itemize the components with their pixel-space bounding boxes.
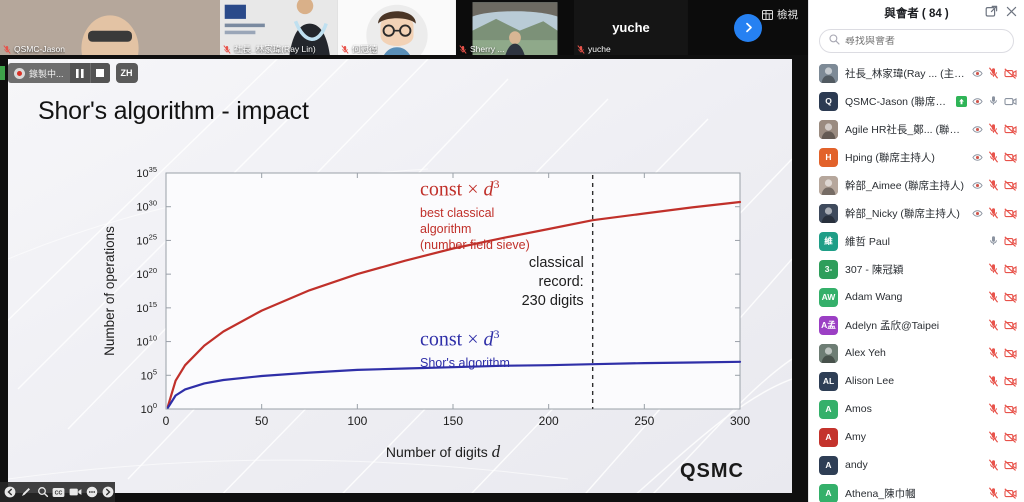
tile-name-label: Sherry ... <box>459 44 504 54</box>
participant-row[interactable]: AAmy <box>809 423 1024 451</box>
participants-panel: 與會者 ( 84 ) 社長_林家瑋(Ray ... (主持人, 我)QQSMC-… <box>808 0 1024 502</box>
share-icon[interactable] <box>956 96 967 107</box>
view-button-label: 檢視 <box>777 7 798 22</box>
stop-recording-button[interactable] <box>90 63 110 83</box>
avatar <box>819 344 838 363</box>
mic-off-icon <box>988 375 999 387</box>
participant-row[interactable]: 幹部_Aimee (聯席主持人) <box>809 171 1024 199</box>
y-tick-label: 1010 <box>136 334 157 349</box>
mic-off-icon <box>223 45 231 54</box>
tile-name-label: 何冠德 <box>341 44 378 54</box>
mic-off-icon <box>988 487 999 499</box>
mic-off-icon[interactable] <box>988 431 999 443</box>
video-tile[interactable]: 社長_林家瑋(Ray Lin) <box>220 0 338 55</box>
video-off-icon[interactable] <box>1004 348 1017 359</box>
avatar: 維 <box>819 232 838 251</box>
participant-status-icons <box>988 347 1017 359</box>
tile-name-label: QSMC-Jason <box>3 44 65 54</box>
participant-status-icons <box>988 375 1017 387</box>
participant-status-icons <box>972 123 1017 135</box>
participant-status-icons <box>988 263 1017 275</box>
x-tick-label: 150 <box>443 414 463 428</box>
video-off-icon[interactable] <box>1004 488 1017 499</box>
mic-off-icon[interactable] <box>988 263 999 275</box>
tile-name-label: yuche <box>577 44 611 54</box>
tile-name-label: 社長_林家瑋(Ray Lin) <box>223 44 316 54</box>
video-off-icon <box>1004 376 1017 387</box>
classical-record-annotation: record: <box>539 274 584 290</box>
avatar: 3- <box>819 260 838 279</box>
video-tile[interactable]: yucheyuche <box>574 0 688 55</box>
participant-row[interactable]: Agile HR社長_鄭... (聯席主持人) <box>809 115 1024 143</box>
video-off-icon <box>1004 236 1017 247</box>
participant-status-icons <box>988 431 1017 443</box>
mic-off-icon[interactable] <box>988 291 999 303</box>
video-off-icon[interactable] <box>1004 320 1017 331</box>
participant-status-icons <box>988 487 1017 499</box>
avatar: AL <box>819 372 838 391</box>
view-button[interactable]: 檢視 <box>758 5 802 24</box>
mic-off-icon <box>988 459 999 471</box>
video-tile[interactable]: Sherry ... <box>456 0 574 55</box>
y-tick-label: 1035 <box>136 165 157 180</box>
y-tick-label: 1030 <box>136 199 157 214</box>
closed-caption-icon[interactable]: CC <box>52 485 66 500</box>
record-icon[interactable] <box>972 96 983 107</box>
chat-icon[interactable] <box>84 485 98 500</box>
participant-name: Hping (聯席主持人) <box>845 150 965 165</box>
video-off-icon[interactable] <box>1004 152 1017 163</box>
mic-off-icon <box>988 179 999 191</box>
participant-row[interactable]: ALAlison Lee <box>809 367 1024 395</box>
participant-name: QSMC-Jason (聯席主持人) <box>845 94 949 109</box>
participant-row[interactable]: 幹部_Nicky (聯席主持人) <box>809 199 1024 227</box>
avatar-photo <box>819 120 838 139</box>
mic-off-icon[interactable] <box>988 151 999 163</box>
video-off-icon <box>1004 348 1017 359</box>
y-tick-label: 100 <box>141 401 157 416</box>
avatar: A <box>819 484 838 502</box>
mic-off-icon[interactable] <box>988 487 999 499</box>
video-off-icon[interactable] <box>1004 68 1017 79</box>
mic-off-icon[interactable] <box>988 207 999 219</box>
classical-record-annotation: classical <box>529 255 584 271</box>
x-tick-label: 200 <box>539 414 559 428</box>
mic-off-icon <box>988 207 999 219</box>
video-on-icon <box>1004 96 1017 107</box>
back-arrow-icon[interactable] <box>3 485 17 500</box>
filmstrip-pager: 檢視 <box>688 0 808 55</box>
avatar: A <box>819 400 838 419</box>
series-formula: const × d3 <box>420 327 510 352</box>
recording-status: 錄製中... <box>8 67 70 80</box>
participant-status-icons <box>972 67 1017 79</box>
participant-row[interactable]: Aandy <box>809 451 1024 479</box>
video-tile[interactable]: 何冠德 <box>338 0 456 55</box>
video-off-icon[interactable] <box>1004 236 1017 247</box>
video-off-icon[interactable] <box>1004 208 1017 219</box>
avatar: A <box>819 428 838 447</box>
series-description: Shor's algorithm <box>420 355 510 371</box>
record-icon <box>972 96 983 107</box>
video-off-icon[interactable] <box>1004 460 1017 471</box>
mic-off-icon <box>459 45 467 54</box>
participant-row[interactable]: AAmos <box>809 395 1024 423</box>
participant-status-icons <box>988 319 1017 331</box>
video-off-icon[interactable] <box>1004 180 1017 191</box>
participant-name: Adam Wang <box>845 291 981 303</box>
participant-status-icons <box>972 207 1017 219</box>
video-on-icon[interactable] <box>1004 96 1017 107</box>
avatar-photo <box>819 344 838 363</box>
avatar <box>819 64 838 83</box>
video-off-icon[interactable] <box>1004 264 1017 275</box>
avatar: A孟 <box>819 316 838 335</box>
video-off-icon <box>1004 180 1017 191</box>
video-tile[interactable]: QSMC-Jason <box>0 0 220 55</box>
participant-row[interactable]: Alex Yeh <box>809 339 1024 367</box>
recording-pill: 錄製中... <box>8 63 110 83</box>
participant-status-icons <box>988 291 1017 303</box>
participant-name: Agile HR社長_鄭... (聯席主持人) <box>845 122 965 137</box>
avatar <box>819 120 838 139</box>
mic-off-icon <box>988 347 999 359</box>
mic-off-icon <box>988 67 999 79</box>
x-tick-label: 300 <box>730 414 750 428</box>
avatar-photo <box>819 176 838 195</box>
record-icon[interactable] <box>972 124 983 135</box>
participant-status-icons <box>956 95 1017 107</box>
x-tick-label: 250 <box>634 414 654 428</box>
chevron-right-icon <box>742 21 755 34</box>
x-tick-label: 50 <box>255 414 269 428</box>
mic-off-icon <box>988 291 999 303</box>
participant-row[interactable]: QQSMC-Jason (聯席主持人) <box>809 87 1024 115</box>
series-annotation: const × d3Shor's algorithm <box>420 327 510 371</box>
record-icon[interactable] <box>972 208 983 219</box>
video-off-icon[interactable] <box>1004 404 1017 415</box>
y-tick-label: 105 <box>141 367 157 382</box>
recording-toolbar: 錄製中... ZH <box>8 62 138 84</box>
mic-off-icon <box>988 123 999 135</box>
panel-header-actions <box>985 5 1018 18</box>
mic-off-icon[interactable] <box>988 347 999 359</box>
video-off-icon[interactable] <box>1004 432 1017 443</box>
participant-name: Amos <box>845 403 981 415</box>
participants-title: 與會者 ( 84 ) <box>884 5 949 21</box>
video-off-icon <box>1004 320 1017 331</box>
video-off-icon <box>1004 460 1017 471</box>
search-participants-box[interactable] <box>819 29 1014 53</box>
mic-off-icon[interactable] <box>988 403 999 415</box>
mic-off-icon <box>341 45 349 54</box>
avatar: H <box>819 148 838 167</box>
x-tick-label: 0 <box>163 414 170 428</box>
video-off-icon <box>1004 124 1017 135</box>
shared-screen-slide: Shor's algorithm - impact QSMC 100105101… <box>8 59 792 493</box>
stage-edge-indicator <box>0 66 5 80</box>
forward-arrow-icon[interactable] <box>101 485 115 500</box>
mic-off-icon[interactable] <box>988 375 999 387</box>
search-input[interactable] <box>845 36 1004 47</box>
participant-name: Alison Lee <box>845 375 981 387</box>
meeting-stage: QSMC-Jason社長_林家瑋(Ray Lin)何冠德Sherry ...yu… <box>0 0 808 502</box>
avatar: Q <box>819 92 838 111</box>
mic-off-icon <box>988 151 999 163</box>
record-icon <box>972 68 983 79</box>
participant-row[interactable]: 社長_林家瑋(Ray ... (主持人, 我) <box>809 59 1024 87</box>
avatar: AW <box>819 288 838 307</box>
participant-row[interactable]: A孟Adelyn 孟欣@Taipei <box>809 311 1024 339</box>
video-off-icon <box>1004 264 1017 275</box>
y-tick-label: 1025 <box>136 232 157 247</box>
grid-view-icon <box>762 10 773 20</box>
video-off-icon <box>1004 292 1017 303</box>
avatar: A <box>819 456 838 475</box>
search-icon <box>829 34 840 48</box>
video-off-icon[interactable] <box>1004 376 1017 387</box>
pencil-icon[interactable] <box>19 485 33 500</box>
zoom-meeting-window: QSMC-Jason社長_林家瑋(Ray Lin)何冠德Sherry ...yu… <box>0 0 1024 502</box>
stop-icon <box>96 69 104 77</box>
series-description: best classicalalgorithm(number field sie… <box>420 205 530 253</box>
record-icon <box>972 124 983 135</box>
classical-record-annotation: 230 digits <box>522 293 584 309</box>
avatar <box>819 176 838 195</box>
series-annotation: const × d3best classicalalgorithm(number… <box>420 177 530 253</box>
mic-off-icon <box>988 263 999 275</box>
participant-status-icons <box>988 403 1017 415</box>
participant-name: 307 - 陳冠穎 <box>845 262 981 277</box>
avatar-photo <box>819 204 838 223</box>
pause-icon <box>76 69 84 78</box>
mic-off-icon <box>577 45 585 54</box>
slide-title: Shor's algorithm - impact <box>38 97 309 126</box>
record-icon <box>972 152 983 163</box>
video-off-icon <box>1004 488 1017 499</box>
mic-off-icon[interactable] <box>988 123 999 135</box>
video-off-icon <box>1004 152 1017 163</box>
screen-share-icon <box>956 96 967 107</box>
participants-list[interactable]: 社長_林家瑋(Ray ... (主持人, 我)QQSMC-Jason (聯席主持… <box>809 59 1024 502</box>
annotation-toolbar: CC <box>0 482 115 502</box>
mic-off-icon[interactable] <box>988 179 999 191</box>
mic-off-icon <box>988 431 999 443</box>
y-axis-label: Number of operations <box>102 226 117 356</box>
mic-off-icon[interactable] <box>988 67 999 79</box>
participant-row[interactable]: AWAdam Wang <box>809 283 1024 311</box>
recording-label: 錄製中... <box>29 67 64 80</box>
series-formula: const × d3 <box>420 177 530 202</box>
participant-name: andy <box>845 459 981 471</box>
avatar <box>819 204 838 223</box>
participant-name: Alex Yeh <box>845 347 981 359</box>
video-off-icon <box>1004 68 1017 79</box>
participant-row[interactable]: AAthena_陳巾幗 <box>809 479 1024 502</box>
y-tick-label: 1020 <box>136 266 157 281</box>
mic-on-icon[interactable] <box>988 95 999 107</box>
participant-name: 社長_林家瑋(Ray ... (主持人, 我) <box>845 66 965 81</box>
mic-on-icon <box>988 95 999 107</box>
participant-name: 維哲 Paul <box>845 234 981 249</box>
x-axis-label: Number of digits d <box>386 442 501 461</box>
video-off-icon[interactable] <box>1004 124 1017 135</box>
mic-on-icon[interactable] <box>988 235 999 247</box>
mic-off-icon[interactable] <box>988 319 999 331</box>
participant-status-icons <box>972 179 1017 191</box>
record-icon <box>972 208 983 219</box>
svg-text:CC: CC <box>55 490 63 496</box>
participant-status-icons <box>988 459 1017 471</box>
avatar-photo <box>819 64 838 83</box>
y-tick-label: 1015 <box>136 300 157 315</box>
camera-icon[interactable] <box>68 485 82 500</box>
video-off-icon <box>1004 432 1017 443</box>
video-off-icon[interactable] <box>1004 292 1017 303</box>
record-icon[interactable] <box>972 180 983 191</box>
participant-name: 幹部_Aimee (聯席主持人) <box>845 178 965 193</box>
mic-on-icon <box>988 235 999 247</box>
mic-off-icon <box>3 45 11 54</box>
participants-panel-header: 與會者 ( 84 ) <box>809 0 1024 26</box>
language-badge[interactable]: ZH <box>116 63 138 83</box>
participant-name: Adelyn 孟欣@Taipei <box>845 318 981 333</box>
search-participants-wrap <box>809 26 1024 59</box>
video-off-icon <box>1004 208 1017 219</box>
participant-row[interactable]: 維維哲 Paul <box>809 227 1024 255</box>
magnifier-icon[interactable] <box>36 485 50 500</box>
participant-row[interactable]: HHping (聯席主持人) <box>809 143 1024 171</box>
participant-filmstrip: QSMC-Jason社長_林家瑋(Ray Lin)何冠德Sherry ...yu… <box>0 0 808 55</box>
mic-off-icon[interactable] <box>988 459 999 471</box>
mic-off-icon <box>988 319 999 331</box>
participant-name: 幹部_Nicky (聯席主持人) <box>845 206 965 221</box>
record-icon <box>972 180 983 191</box>
close-icon[interactable] <box>1005 5 1018 18</box>
video-off-icon <box>1004 404 1017 415</box>
popout-icon[interactable] <box>985 5 998 18</box>
participant-row[interactable]: 3-307 - 陳冠穎 <box>809 255 1024 283</box>
participant-name: Amy <box>845 431 981 443</box>
record-icon[interactable] <box>972 68 983 79</box>
record-icon[interactable] <box>972 152 983 163</box>
x-tick-label: 100 <box>347 414 367 428</box>
mic-off-icon <box>988 403 999 415</box>
participant-status-icons <box>988 235 1017 247</box>
record-dot-icon <box>14 68 25 79</box>
participant-status-icons <box>972 151 1017 163</box>
participant-name: Athena_陳巾幗 <box>845 486 981 501</box>
pause-recording-button[interactable] <box>70 63 90 83</box>
